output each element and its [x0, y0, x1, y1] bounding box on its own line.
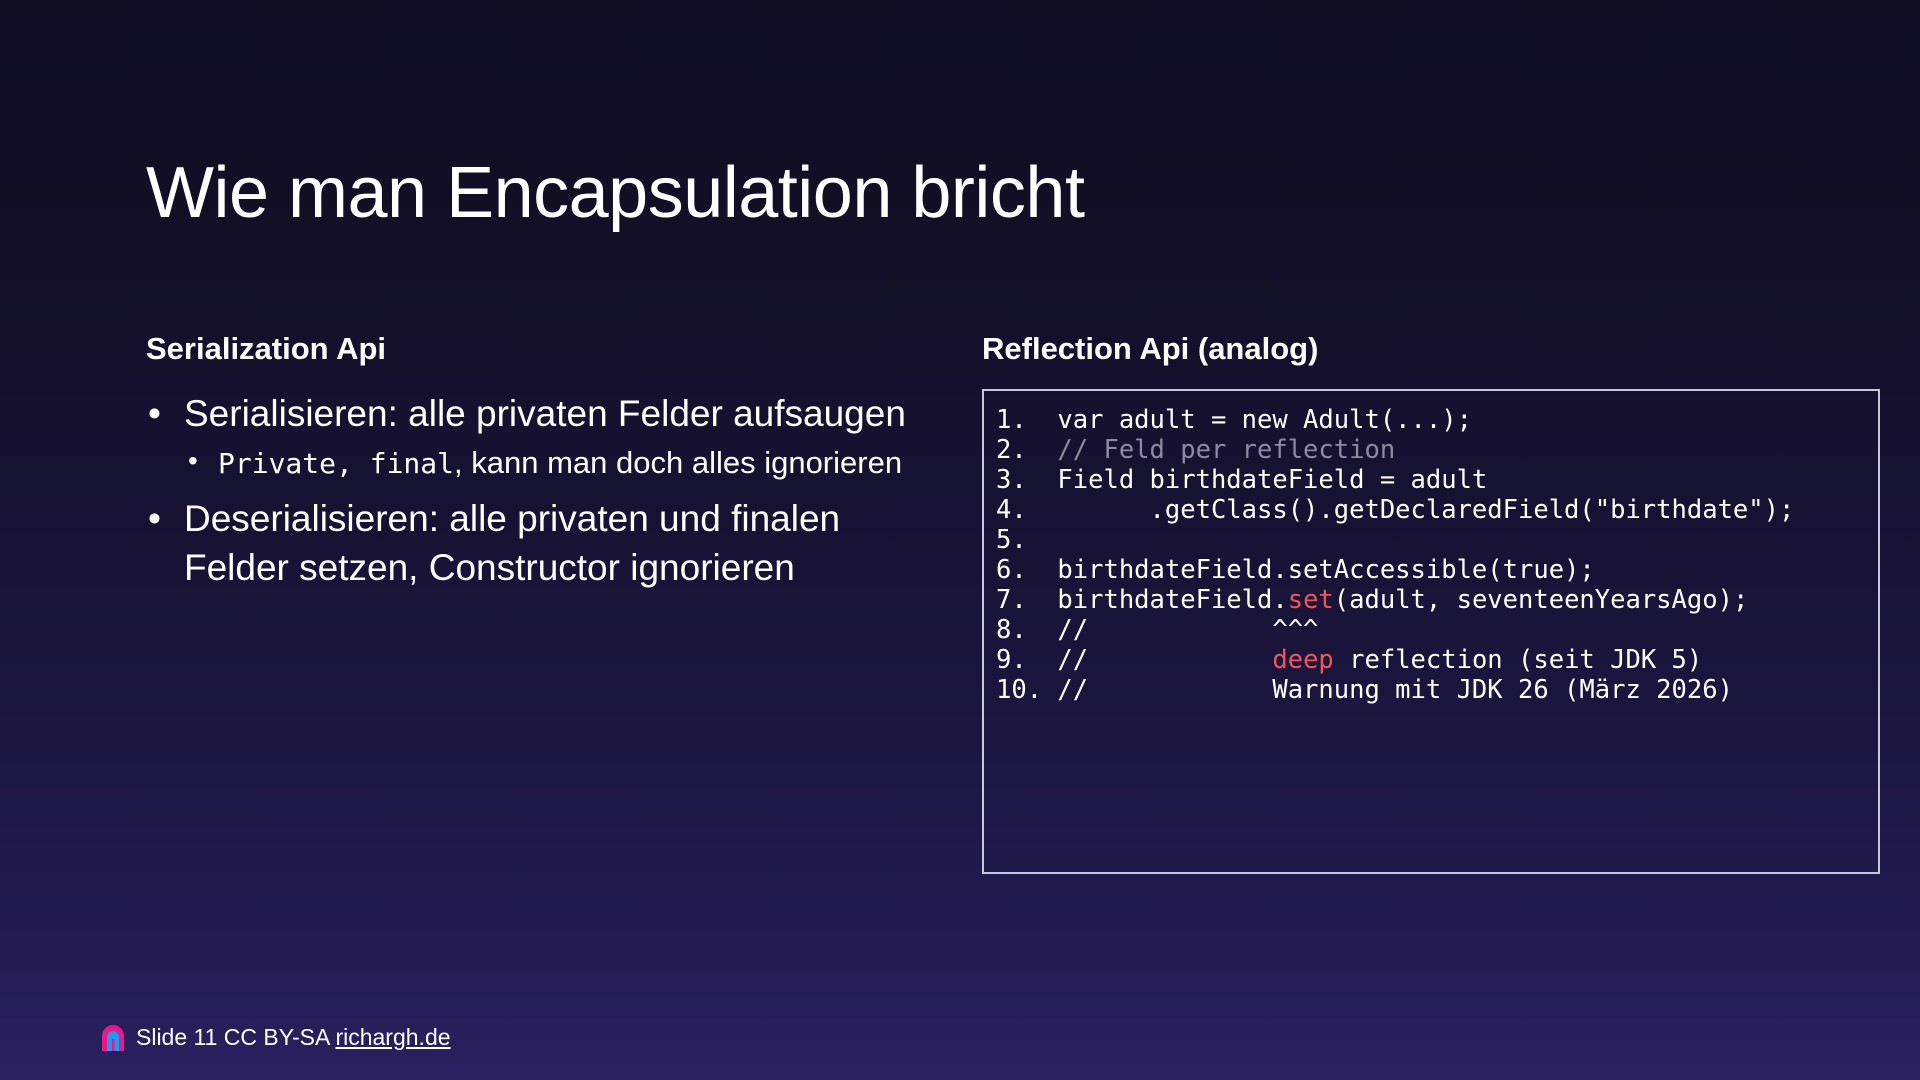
- left-column-heading: Serialization Api: [146, 330, 936, 367]
- bullet-dot-icon: •: [148, 494, 161, 543]
- code-segment: // Warnung mit JDK 26 (März 2026): [1042, 675, 1733, 705]
- code-line-number: 2.: [996, 435, 1027, 465]
- list-item: • Private, final, kann man doch alles ig…: [184, 442, 936, 484]
- sub-bullet-mono-text: Private, final: [218, 447, 454, 480]
- sub-bullet-text: , kann man doch alles ignorieren: [454, 445, 902, 480]
- richargh-logo-icon: [100, 1022, 126, 1052]
- list-item: • Serialisieren: alle privaten Felder au…: [146, 389, 936, 484]
- code-segment: reflection (seit JDK 5): [1334, 645, 1702, 675]
- code-segment: birthdateField.setAccessible(true);: [1027, 555, 1595, 585]
- serialization-bullet-list: • Serialisieren: alle privaten Felder au…: [146, 389, 936, 592]
- code-segment: Field birthdateField = adult: [1027, 465, 1488, 495]
- right-column-heading: Reflection Api (analog): [982, 330, 1882, 367]
- right-column: Reflection Api (analog) 1. var adult = n…: [982, 330, 1882, 874]
- footer-slide-label: Slide 11 CC BY-SA: [136, 1024, 335, 1050]
- footer-text: Slide 11 CC BY-SA richargh.de: [136, 1024, 451, 1051]
- left-column: Serialization Api • Serialisieren: alle …: [146, 330, 936, 603]
- bullet-dot-icon: •: [148, 389, 161, 438]
- code-line-number: 9.: [996, 645, 1027, 675]
- code-segment: .getClass().getDeclaredField("birthdate"…: [1027, 495, 1795, 525]
- code-line-number: 7.: [996, 585, 1027, 615]
- code-line-number: 10.: [996, 675, 1042, 705]
- code-segment: set: [1288, 585, 1334, 615]
- bullet-text: Serialisieren: alle privaten Felder aufs…: [184, 393, 906, 434]
- code-line-number: 8.: [996, 615, 1027, 645]
- code-segment: //: [1027, 645, 1273, 675]
- slide-root: Wie man Encapsulation bricht Serializati…: [0, 0, 1920, 1080]
- code-line-number: 6.: [996, 555, 1027, 585]
- code-line-number: 4.: [996, 495, 1027, 525]
- code-segment: deep: [1272, 645, 1333, 675]
- code-line-number: 5.: [996, 525, 1027, 555]
- code-line-number: 1.: [996, 405, 1027, 435]
- footer-link[interactable]: richargh.de: [335, 1024, 450, 1050]
- code-block: 1. var adult = new Adult(...); 2. // Fel…: [982, 389, 1880, 874]
- code-line-number: 3.: [996, 465, 1027, 495]
- sub-bullet-dot-icon: •: [188, 441, 198, 480]
- code-segment: birthdateField.: [1027, 585, 1288, 615]
- code-segment: // ^^^: [1027, 615, 1319, 645]
- footer: Slide 11 CC BY-SA richargh.de: [100, 1022, 451, 1052]
- code-segment: var adult = new Adult(...);: [1027, 405, 1472, 435]
- list-item: • Deserialisieren: alle privaten und fin…: [146, 494, 936, 592]
- code-segment: (adult, seventeenYearsAgo);: [1334, 585, 1749, 615]
- code-listing: 1. var adult = new Adult(...); 2. // Fel…: [996, 405, 1878, 705]
- sub-bullet-list: • Private, final, kann man doch alles ig…: [184, 442, 936, 484]
- code-segment: // Feld per reflection: [1027, 435, 1395, 465]
- page-title: Wie man Encapsulation bricht: [146, 154, 1084, 233]
- bullet-text: Deserialisieren: alle privaten und final…: [184, 498, 840, 588]
